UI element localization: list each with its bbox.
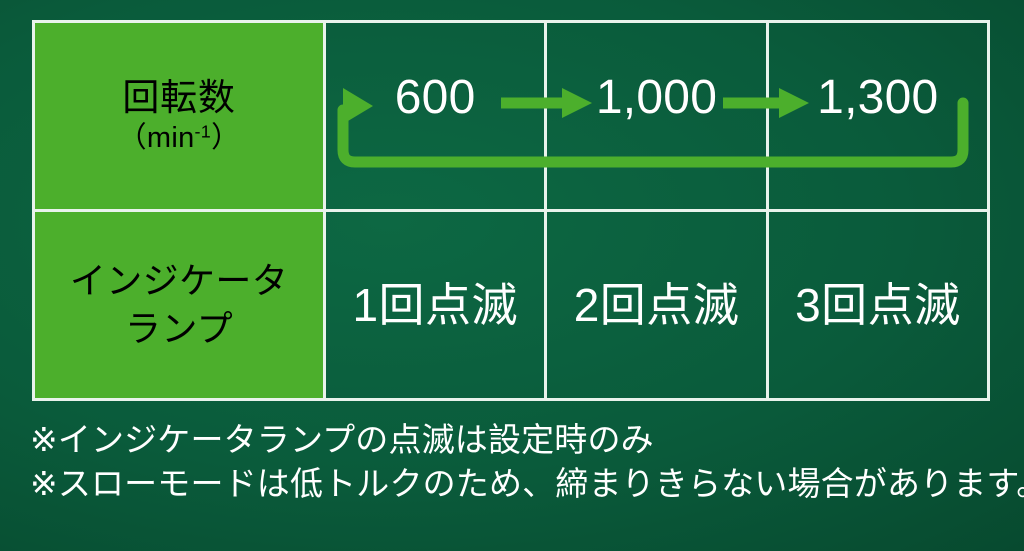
indicator-lamp-value-2: 2回点滅 [547, 282, 765, 328]
indicator-lamp-value-3: 3回点滅 [769, 282, 987, 328]
cell-rotation-speed-2: 1,000 [546, 22, 767, 211]
footnote-1: ※インジケータランプの点滅は設定時のみ [30, 418, 1010, 462]
footnote-2: ※スローモードは低トルクのため、締まりきらない場合があります。 [30, 462, 1010, 506]
rotation-speed-value-1: 600 [326, 74, 544, 122]
rotation-speed-value-2: 1,000 [547, 74, 765, 122]
spec-table: 回転数 （min-1） 600 1,000 1,300 インジケータ ランプ [32, 20, 990, 401]
table-row-rotation-speed: 回転数 （min-1） 600 1,000 1,300 [34, 22, 989, 211]
cell-indicator-lamp-3: 3回点滅 [767, 211, 988, 400]
cell-indicator-lamp-1: 1回点滅 [325, 211, 546, 400]
row-label-indicator-lamp: インジケータ ランプ [34, 211, 325, 400]
unit-suffix: ） [211, 122, 240, 154]
row-label-indicator-lamp-line2: ランプ [35, 305, 323, 353]
row-label-rotation-speed-unit: （min-1） [35, 120, 323, 158]
cell-rotation-speed-1: 600 [325, 22, 546, 211]
footnotes: ※インジケータランプの点滅は設定時のみ ※スローモードは低トルクのため、締まりき… [30, 418, 1010, 506]
indicator-lamp-value-1: 1回点滅 [326, 282, 544, 328]
row-label-indicator-lamp-line1: インジケータ [35, 257, 323, 305]
unit-prefix: （min [118, 122, 195, 154]
rotation-speed-value-3: 1,300 [769, 74, 987, 122]
row-label-rotation-speed-main: 回転数 [35, 75, 323, 120]
unit-exponent: -1 [195, 121, 212, 141]
cell-indicator-lamp-2: 2回点滅 [546, 211, 767, 400]
cell-rotation-speed-3: 1,300 [767, 22, 988, 211]
table-row-indicator-lamp: インジケータ ランプ 1回点滅 2回点滅 3回点滅 [34, 211, 989, 400]
row-label-rotation-speed: 回転数 （min-1） [34, 22, 325, 211]
rotation-speed-spec-panel: 回転数 （min-1） 600 1,000 1,300 インジケータ ランプ [0, 0, 1024, 551]
